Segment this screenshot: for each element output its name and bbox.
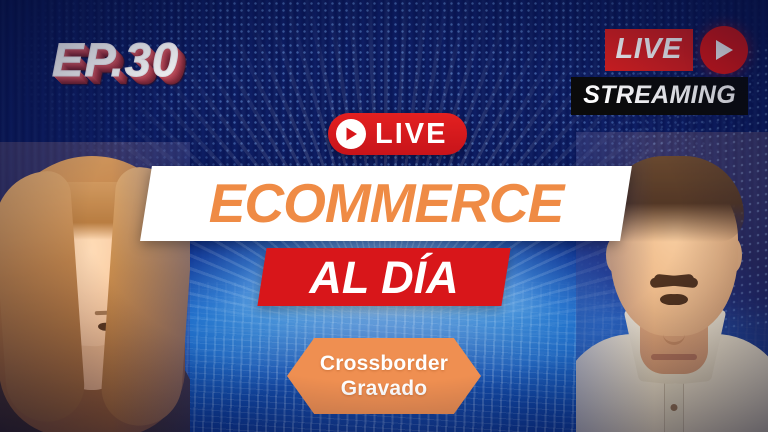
live-streaming-badge: LIVE STREAMING <box>548 26 748 115</box>
topic-badge: Crossborder Gravado <box>287 338 481 414</box>
man-shirt-button <box>671 404 678 411</box>
title-line-2: AL DÍA <box>262 248 506 306</box>
live-streaming-row-top: LIVE <box>548 26 748 74</box>
man-mouth <box>651 354 697 360</box>
streaming-label: STREAMING <box>571 77 748 115</box>
center-live-label: LIVE <box>375 120 447 149</box>
title-line-1: ECOMMERCE <box>146 166 626 241</box>
live-streaming-row-bottom: STREAMING <box>548 77 748 115</box>
stream-thumbnail: EP.30 LIVE STREAMING LIVE ECOMMERCE AL D… <box>0 0 768 432</box>
topic-line-2: Gravado <box>341 377 428 401</box>
man-eye-right <box>666 294 688 305</box>
live-label: LIVE <box>605 29 693 71</box>
center-live-badge: LIVE <box>328 113 467 155</box>
topic-line-1: Crossborder <box>320 352 448 376</box>
episode-number: EP.30 <box>52 32 179 87</box>
play-icon <box>336 119 366 149</box>
man-nose <box>663 308 685 345</box>
play-icon <box>700 26 748 74</box>
